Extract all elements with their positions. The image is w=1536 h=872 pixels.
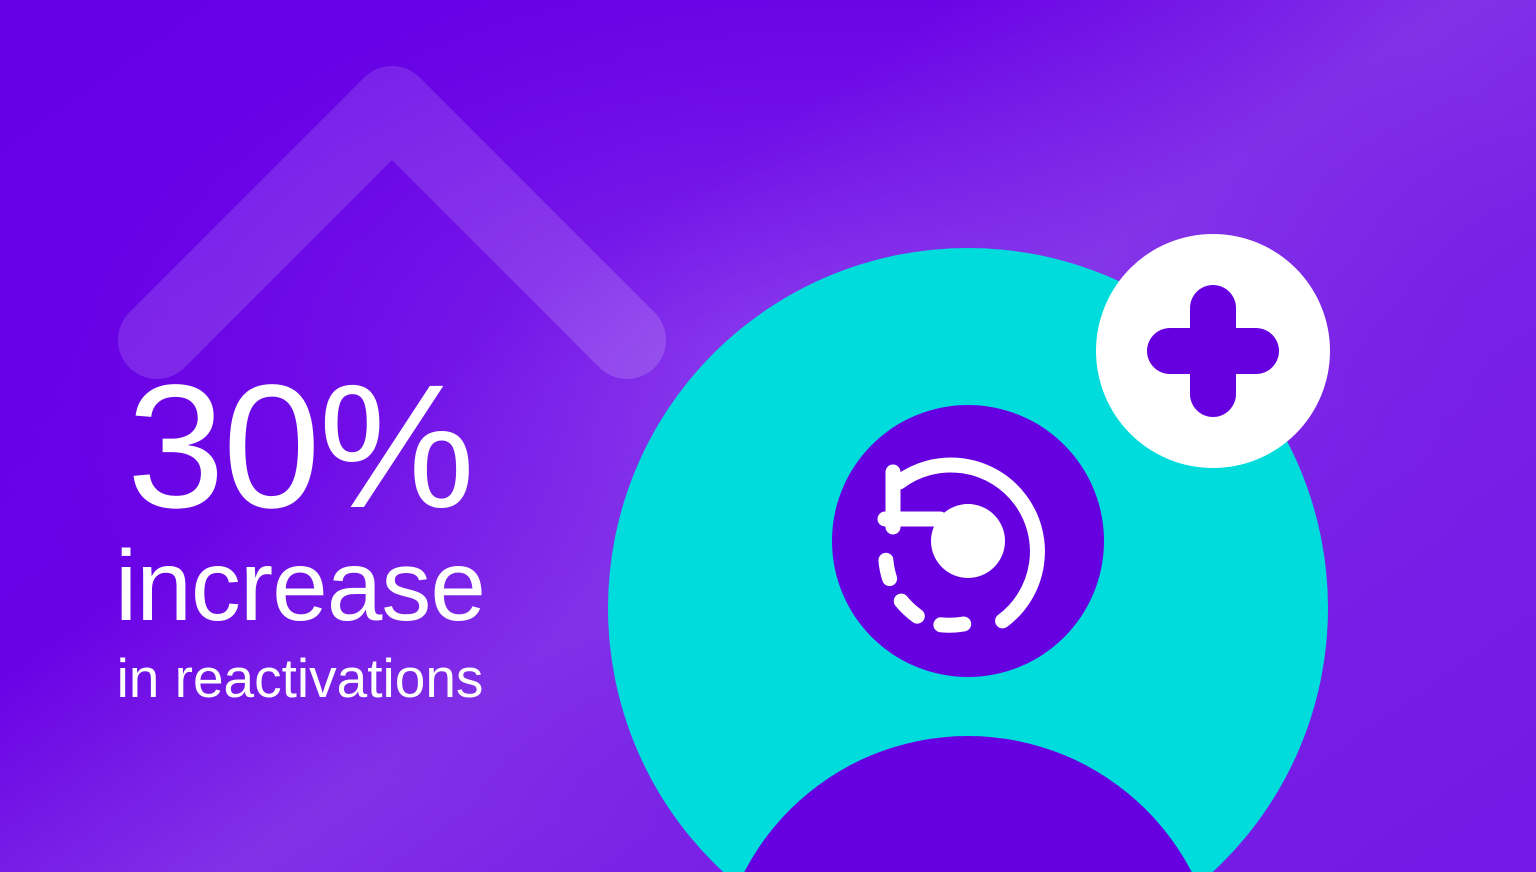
stat-label-line2: in reactivations [0,648,600,709]
plus-badge-icon [1096,234,1330,468]
stat-label-line1: increase [0,532,600,640]
stat-graphic-canvas: 30% increase in reactivations [0,0,1536,872]
stat-value: 30% [0,358,600,538]
stat-text-block: 30% increase in reactivations [0,358,600,708]
